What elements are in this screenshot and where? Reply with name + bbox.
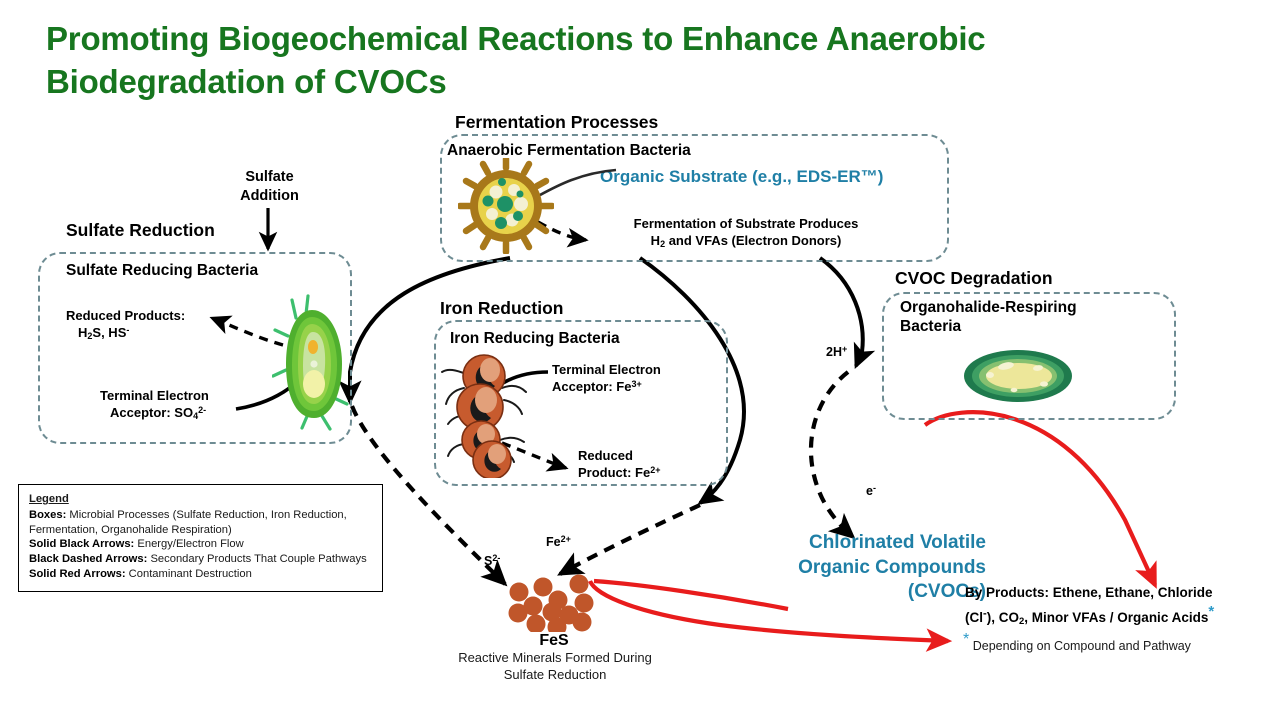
heading-iron-reducing-bacteria: Iron Reducing Bacteria [450, 329, 620, 348]
electron-pre: e [866, 484, 873, 498]
h2s-rest: S, HS [92, 325, 126, 340]
fe3-charge: 3+ [631, 379, 641, 389]
footnote-asterisk: * [963, 631, 969, 648]
arrow-dashed-ferrous-to-fes [560, 505, 700, 574]
label-iron-product: Reduced Product: Fe2+ [578, 448, 718, 482]
label-organic-substrate: Organic Substrate (e.g., EDS-ER™) [600, 167, 883, 187]
arrow-dashed-electron-to-cvoc [811, 372, 853, 537]
cvoc-label: Chlorinated Volatile Organic Compounds (… [748, 531, 986, 605]
iron-acceptor-pre: Acceptor: Fe [552, 379, 631, 394]
fes-mineral-cluster-icon [500, 570, 608, 632]
legend-box[interactable]: Legend Boxes: Microbial Processes (Sulfa… [18, 484, 383, 592]
so4-charge: 2- [198, 405, 206, 415]
legend-term-dashed-black: Black Dashed Arrows: [29, 553, 147, 565]
legend-item-dashed-black: Black Dashed Arrows: Secondary Products … [29, 552, 373, 567]
label-sulfide-ion: S2- [484, 553, 500, 568]
legend-desc-solid-black: Energy/Electron Flow [134, 538, 243, 550]
sulfate-acceptor-pre: Acceptor: SO [110, 405, 193, 420]
section-caption-fermentation: Fermentation Processes [455, 112, 658, 133]
heading-sulfate-reducing-bacteria: Sulfate Reducing Bacteria [66, 261, 258, 280]
heading-organohalide-respiring-bacteria: Organohalide-Respiring Bacteria [900, 298, 1120, 337]
legend-term-boxes: Boxes: [29, 509, 66, 521]
orhb-line2: Bacteria [900, 318, 961, 335]
label-ferrous-ion: Fe2+ [546, 534, 571, 549]
legend-desc-solid-red: Contaminant Destruction [126, 568, 252, 580]
fermentation-products-line1: Fermentation of Substrate Produces [634, 216, 859, 231]
co2-pre: ), CO [987, 610, 1019, 625]
sulfide-charge: 2- [492, 553, 500, 563]
byproducts-rest: , Minor VFAs / Organic Acids [1024, 610, 1208, 625]
h2s-h: H [78, 325, 87, 340]
byproducts-asterisk: * [1208, 603, 1214, 620]
iron-product-line1: Reduced [578, 448, 633, 463]
page-title: Promoting Biogeochemical Reactions to En… [46, 18, 1106, 104]
label-reduced-products-sulfide: Reduced Products: H2S, HS- [66, 308, 216, 343]
fes-description: Reactive Minerals Formed During Sulfate … [430, 650, 680, 683]
sulfate-addition-line1: Sulfate [222, 168, 317, 187]
label-protons: 2H+ [826, 344, 847, 359]
fe2-charge: 2+ [650, 465, 660, 475]
section-caption-sulfate-reduction: Sulfate Reduction [66, 220, 215, 241]
h2-pre: H [651, 233, 660, 248]
byproducts-line2: (Cl-), CO2, Minor VFAs / Organic Acids [965, 610, 1208, 625]
iron-product-pre: Product: Fe [578, 465, 650, 480]
fes-desc-line1: Reactive Minerals Formed During [458, 650, 652, 665]
cvoc-line1: Chlorinated Volatile [809, 532, 986, 553]
fes-desc-line2: Sulfate Reduction [504, 667, 607, 682]
byproducts-label: By Products: Ethene, Ethane, Chloride (C… [965, 584, 1265, 629]
byproducts-footnote: * Depending on Compound and Pathway [963, 631, 1263, 653]
cl-open: (Cl [965, 610, 983, 625]
ferrous-charge: 2+ [561, 534, 571, 544]
legend-item-solid-red: Solid Red Arrows: Contaminant Destructio… [29, 567, 373, 582]
fes-label: FeS [504, 632, 604, 650]
label-fermentation-products: Fermentation of Substrate Produces H2 an… [600, 216, 892, 251]
footnote-text: Depending on Compound and Pathway [973, 639, 1191, 653]
protons-pre: 2H [826, 345, 842, 359]
legend-desc-dashed-black: Secondary Products That Couple Pathways [147, 553, 366, 565]
protons-charge: + [842, 344, 847, 354]
label-electron: e- [866, 483, 876, 498]
ferrous-pre: Fe [546, 535, 561, 549]
fermentation-bacterium-icon [458, 158, 554, 254]
legend-item-solid-black: Solid Black Arrows: Energy/Electron Flow [29, 537, 373, 552]
legend-term-solid-red: Solid Red Arrows: [29, 568, 126, 580]
organohalide-respiring-bacterium-icon [962, 348, 1074, 404]
sulfate-addition-line2: Addition [222, 187, 317, 206]
legend-title: Legend [29, 492, 373, 507]
byproducts-line1: By Products: Ethene, Ethane, Chloride [965, 585, 1213, 600]
section-caption-cvoc-degradation: CVOC Degradation [895, 268, 1053, 289]
legend-desc-boxes: Microbial Processes (Sulfate Reduction, … [29, 509, 347, 536]
legend-item-boxes: Boxes: Microbial Processes (Sulfate Redu… [29, 508, 373, 538]
iron-acceptor-line1: Terminal Electron [552, 362, 661, 377]
orhb-line1: Organohalide-Respiring [900, 299, 1077, 316]
legend-term-solid-black: Solid Black Arrows: [29, 538, 134, 550]
sulfate-addition-label: Sulfate Addition [222, 168, 317, 206]
diagram-canvas: Promoting Biogeochemical Reactions to En… [0, 0, 1280, 720]
sulfate-acceptor-line1: Terminal Electron [100, 388, 209, 403]
sulfate-reducing-bacterium-icon [272, 292, 358, 434]
label-sulfate-acceptor: Terminal Electron Acceptor: SO42- [100, 388, 250, 423]
hs-charge: - [126, 325, 129, 335]
cvoc-line2: Organic Compounds [798, 557, 986, 578]
reduced-products-line1: Reduced Products: [66, 308, 185, 323]
electron-charge: - [873, 483, 876, 493]
section-caption-iron-reduction: Iron Reduction [440, 298, 563, 319]
vfa-rest: and VFAs (Electron Donors) [665, 233, 841, 248]
label-iron-acceptor: Terminal Electron Acceptor: Fe3+ [552, 362, 702, 396]
iron-reducing-bacteria-icon [440, 352, 550, 478]
